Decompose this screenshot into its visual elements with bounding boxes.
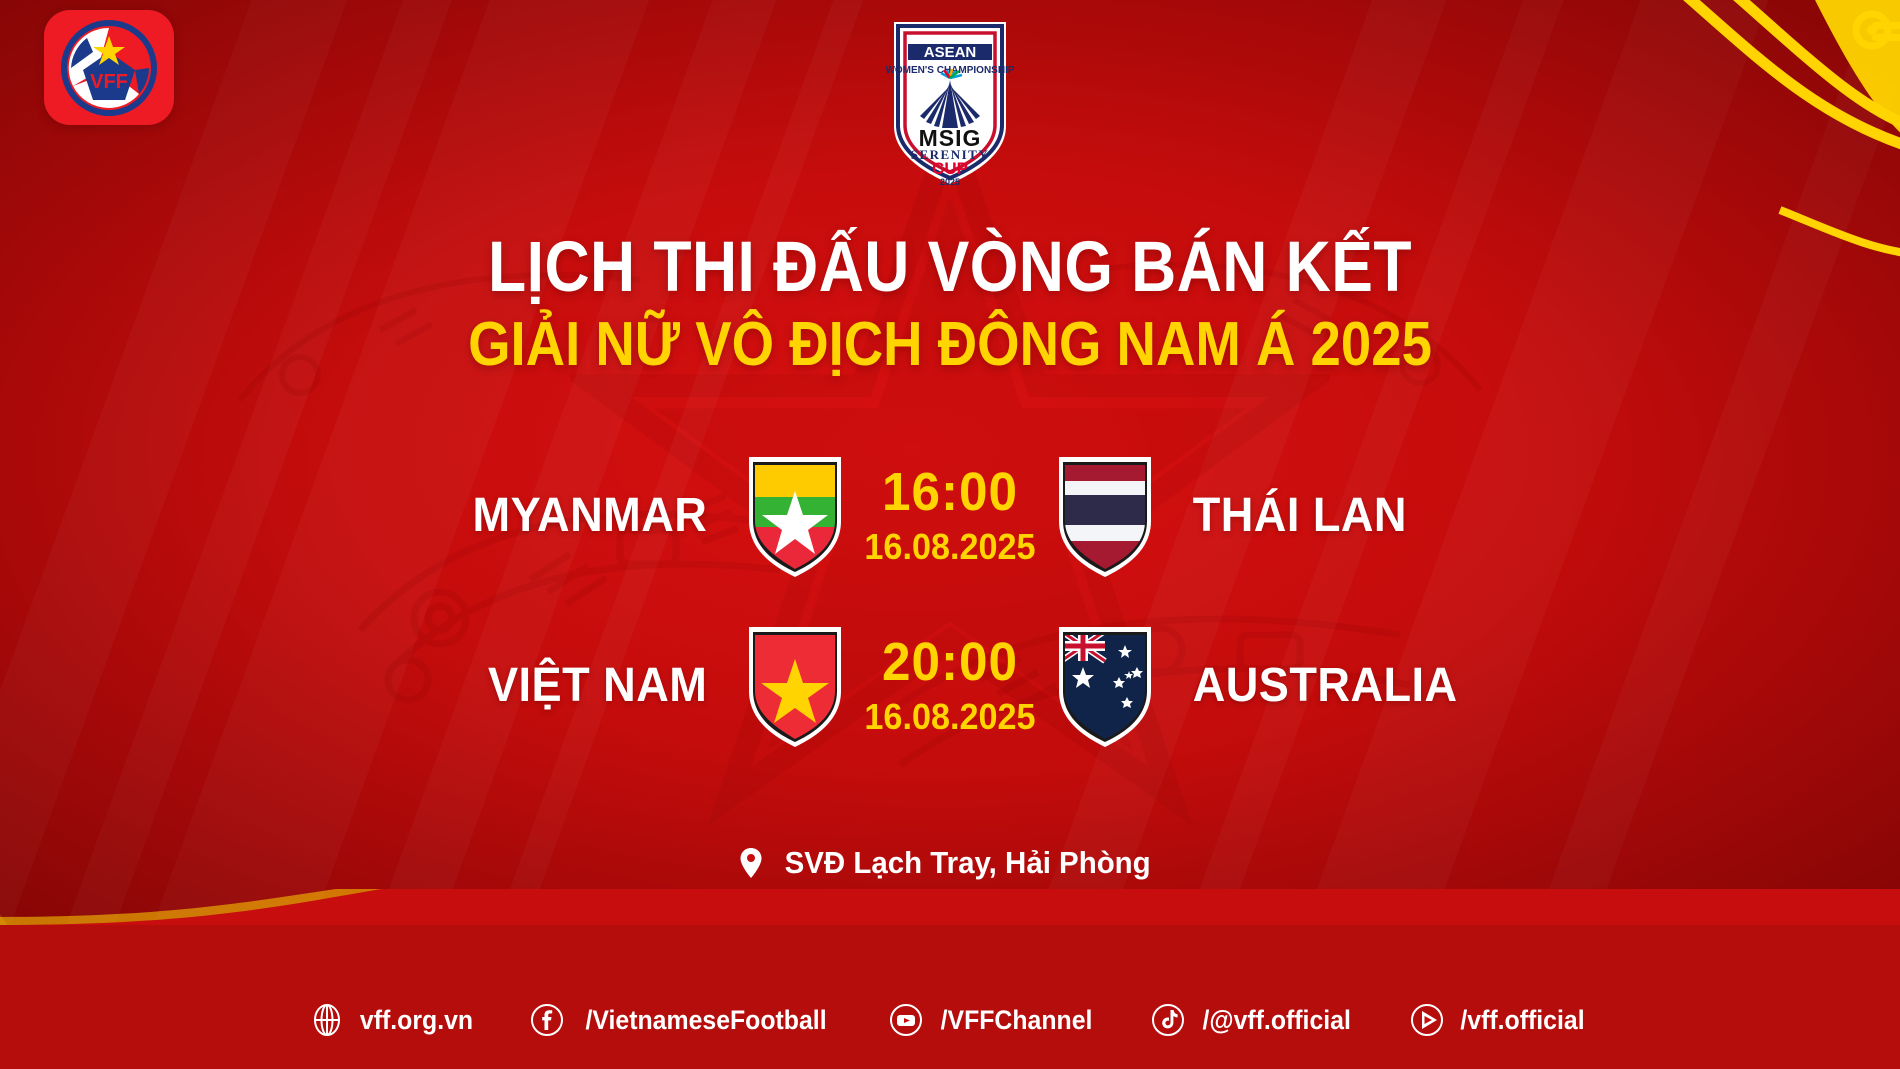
page-title: LỊCH THI ĐẤU VÒNG BÁN KẾT xyxy=(114,232,1786,304)
venue-line: SVĐ Lạch Tray, Hải Phòng xyxy=(0,845,1900,881)
match-row: VIỆT NAM 20:00 16.08.2025 xyxy=(0,600,1900,770)
vff-logo-text: VFF xyxy=(90,71,128,93)
page-subtitle: GIẢI NỮ VÔ ĐỊCH ĐÔNG NAM Á 2025 xyxy=(114,312,1786,377)
tournament-logo-year: 2025 xyxy=(940,177,960,187)
thailand-flag-crest xyxy=(1053,449,1157,581)
social-label: /@vff.official xyxy=(1203,1005,1351,1036)
social-item-website[interactable]: vff.org.vn xyxy=(310,1003,478,1037)
home-team-crest xyxy=(735,619,855,751)
vietnam-flag-crest xyxy=(743,619,847,751)
tournament-logo-line1: ASEAN xyxy=(924,44,977,61)
home-team-name: VIỆT NAM xyxy=(22,658,713,713)
venue-text: SVĐ Lạch Tray, Hải Phòng xyxy=(785,845,1151,881)
social-item-facebook[interactable]: /VietnameseFootball xyxy=(530,1003,837,1037)
home-team-name: MYANMAR xyxy=(22,488,713,543)
match-kickoff: 20:00 16.08.2025 xyxy=(855,635,1045,735)
kickoff-date: 16.08.2025 xyxy=(860,529,1041,565)
social-label: /vff.official xyxy=(1460,1005,1584,1036)
tournament-logo-word3: CUP xyxy=(932,159,968,178)
australia-flag-crest xyxy=(1053,619,1157,751)
social-label: vff.org.vn xyxy=(360,1005,473,1036)
tournament-logo: ASEAN WOMEN'S CHAMPIONSHIP MSIG SERENITY… xyxy=(886,18,1014,188)
social-item-zalo-play[interactable]: /vff.official xyxy=(1410,1003,1590,1037)
social-label: /VietnameseFootball xyxy=(586,1005,827,1036)
social-item-tiktok[interactable]: /@vff.official xyxy=(1151,1003,1357,1037)
match-row: MYANMAR 16:00 16.08.2025 xyxy=(0,430,1900,600)
myanmar-flag-crest xyxy=(743,449,847,581)
match-list: MYANMAR 16:00 16.08.2025 xyxy=(0,430,1900,770)
facebook-icon xyxy=(530,1003,564,1037)
social-label: /VFFChannel xyxy=(941,1005,1093,1036)
footer-decoration xyxy=(0,889,1900,1069)
kickoff-time: 20:00 xyxy=(860,635,1041,689)
match-kickoff: 16:00 16.08.2025 xyxy=(855,465,1045,565)
tiktok-icon xyxy=(1151,1003,1185,1037)
social-item-youtube[interactable]: /VFFChannel xyxy=(889,1003,1099,1037)
header-block: LỊCH THI ĐẤU VÒNG BÁN KẾT GIẢI NỮ VÔ ĐỊC… xyxy=(0,232,1900,378)
globe-icon xyxy=(310,1003,344,1037)
away-team-name: AUSTRALIA xyxy=(1187,658,1878,713)
vff-logo: VFF xyxy=(44,10,174,125)
kickoff-date: 16.08.2025 xyxy=(860,699,1041,735)
location-pin-icon xyxy=(739,847,763,879)
home-team-crest xyxy=(735,449,855,581)
play-icon xyxy=(1410,1003,1444,1037)
vff-ball-icon: VFF xyxy=(57,16,161,120)
footer-social-bar: vff.org.vn /VietnameseFootball /VFFChann… xyxy=(0,1003,1900,1037)
kickoff-time: 16:00 xyxy=(860,465,1041,519)
youtube-icon xyxy=(889,1003,923,1037)
away-team-name: THÁI LAN xyxy=(1187,488,1878,543)
away-team-crest xyxy=(1045,449,1165,581)
away-team-crest xyxy=(1045,619,1165,751)
